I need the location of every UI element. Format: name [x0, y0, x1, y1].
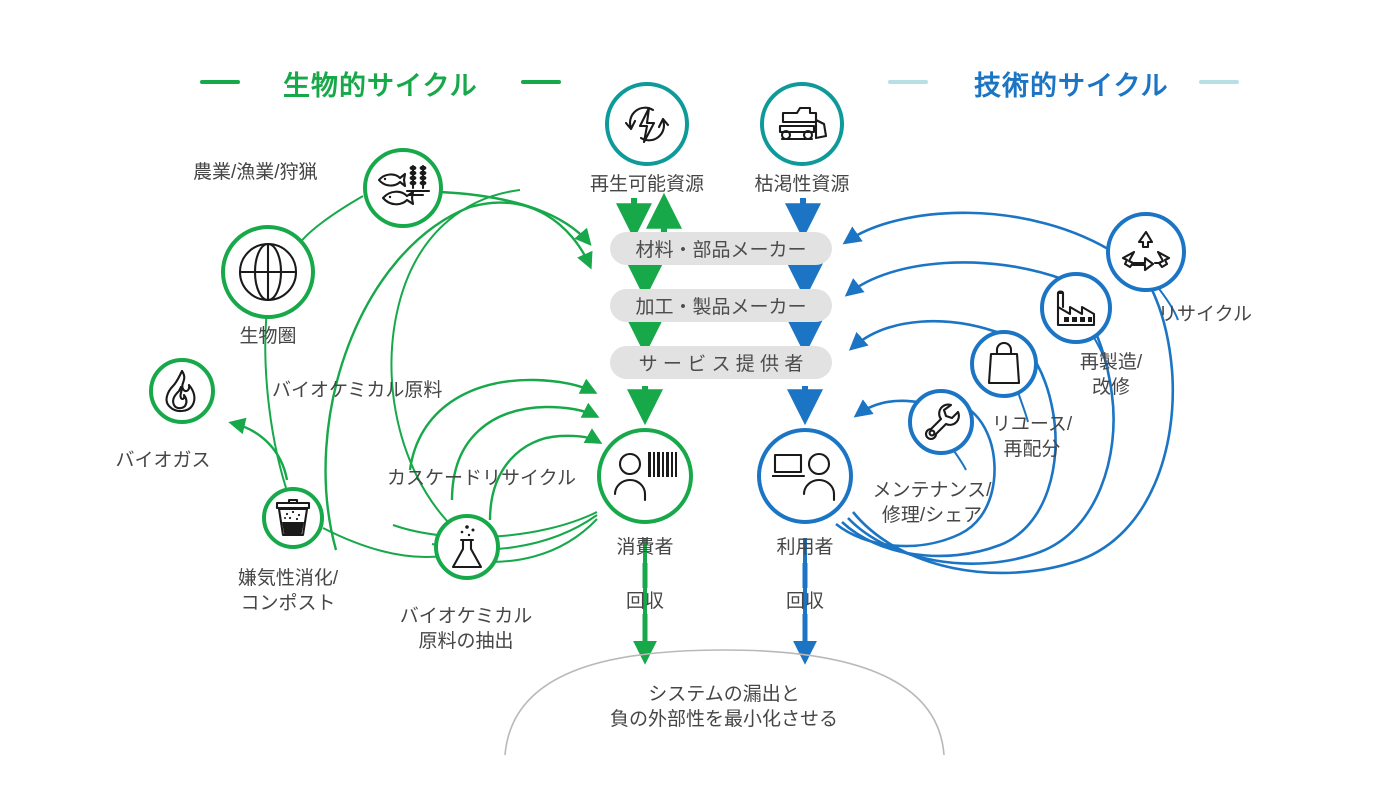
leakage-line-2: 負の外部性を最小化させる [610, 707, 838, 732]
anaerobic-line-2: コンポスト [238, 591, 338, 616]
node-maintenance[interactable] [908, 389, 974, 455]
label-biochemical-extraction: バイオケミカル 原料の抽出 [400, 604, 532, 654]
node-biosphere[interactable] [221, 225, 315, 319]
label-farming: 農業/漁業/狩猟 [193, 160, 318, 185]
remanufacture-line-2: 改修 [1080, 375, 1142, 400]
maintenance-line-1: メンテナンス/ [873, 478, 992, 503]
label-user: 利用者 [776, 535, 833, 560]
recycle-icon [1120, 228, 1172, 276]
remanufacture-line-1: 再製造/ [1080, 350, 1142, 375]
circular-economy-diagram: 生物的サイクル 技術的サイクル [0, 0, 1377, 787]
reuse-line-2: 再配分 [992, 437, 1072, 462]
node-consumer[interactable] [597, 428, 693, 524]
label-biosphere: 生物圏 [239, 324, 296, 349]
label-finite-resources: 枯渇性資源 [754, 172, 849, 197]
node-reuse[interactable] [970, 330, 1038, 398]
label-consumer: 消費者 [616, 535, 673, 560]
user-laptop-icon [772, 449, 838, 503]
reuse-line-1: リユース/ [992, 412, 1072, 437]
flame-icon [162, 369, 202, 413]
label-leakage: システムの漏出と 負の外部性を最小化させる [610, 682, 838, 732]
node-farming[interactable] [363, 148, 443, 228]
label-biogas: バイオガス [115, 448, 210, 473]
fish-wheat-icon [375, 162, 431, 214]
label-remanufacture: 再製造/ 改修 [1080, 350, 1142, 400]
bulldozer-icon [774, 101, 830, 147]
node-user[interactable] [757, 428, 853, 524]
leakage-line-1: システムの漏出と [610, 682, 838, 707]
compost-bin-icon [273, 497, 313, 539]
extraction-line-2: 原料の抽出 [400, 629, 532, 654]
node-renewable-resources[interactable] [605, 82, 689, 166]
label-collect-left: 回収 [626, 589, 664, 614]
consumer-barcode-icon [612, 449, 678, 503]
label-recycle: リサイクル [1158, 302, 1252, 327]
factory-icon [1052, 287, 1100, 329]
pill-materials[interactable]: 材料・部品メーカー [610, 232, 832, 265]
shopping-bag-icon [984, 342, 1024, 386]
node-recycle[interactable] [1106, 212, 1186, 292]
node-biochemical-extraction[interactable] [434, 514, 500, 580]
label-cascade-recycling: カスケードリサイクル [387, 466, 576, 491]
label-biochemical-feedstock: バイオケミカル原料 [272, 378, 442, 403]
maintenance-line-2: 修理/シェア [873, 503, 992, 528]
label-renewable-resources: 再生可能資源 [590, 172, 704, 197]
node-anaerobic-digestion[interactable] [262, 487, 324, 549]
label-anaerobic-digestion: 嫌気性消化/ コンポスト [238, 566, 338, 616]
label-reuse: リユース/ 再配分 [992, 412, 1072, 462]
label-maintenance: メンテナンス/ 修理/シェア [873, 478, 992, 528]
globe-icon [237, 241, 299, 303]
node-finite-resources[interactable] [760, 82, 844, 166]
pill-manufacturers[interactable]: 加工・製品メーカー [610, 289, 832, 322]
label-collect-right: 回収 [786, 589, 824, 614]
pill-service-provider[interactable]: サ ー ビ ス 提 供 者 [610, 346, 832, 379]
flask-icon [447, 523, 487, 571]
node-remanufacture[interactable] [1040, 272, 1112, 344]
anaerobic-line-1: 嫌気性消化/ [238, 566, 338, 591]
node-biogas[interactable] [149, 358, 215, 424]
extraction-line-1: バイオケミカル [400, 604, 532, 629]
renewable-energy-icon [620, 97, 674, 151]
wrench-icon [920, 401, 962, 443]
